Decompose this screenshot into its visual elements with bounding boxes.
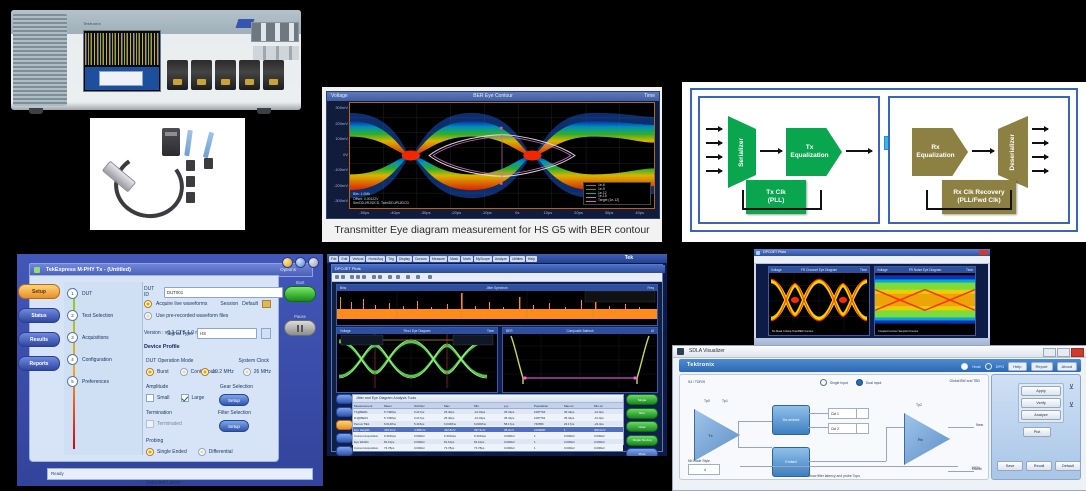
table-cell: 73.78ps — [383, 445, 413, 450]
column-header[interactable]: Max-cc — [563, 403, 593, 408]
save-button[interactable]: Save — [997, 461, 1023, 471]
two-eye-app-icon — [756, 251, 760, 255]
filter-setup-button[interactable]: Setup — [219, 420, 249, 432]
embed-block[interactable]: Embed — [772, 447, 810, 477]
mode-burst-radio[interactable] — [146, 368, 154, 376]
noise-eye-annotation: Coupled Contour Sampled Contour — [878, 330, 919, 333]
tx-input-arrow-3 — [706, 156, 722, 158]
dpojet-scope-screen[interactable]: FileEditVerticalHoriz/AcqTrigDisplayCurs… — [327, 254, 667, 456]
probe-tip-2 — [203, 132, 214, 158]
left-eye-title-left: Voltage — [771, 268, 782, 272]
tx-amplifier-label: Tx — [708, 433, 712, 438]
tekexpress-title-text: TekExpress M-PHY Tx - (Untitled) — [46, 267, 131, 273]
verify-button[interactable]: Verify — [1021, 398, 1061, 408]
rx-equalization-label: Rx Equalization — [916, 144, 954, 160]
eye-plot-area: Bits: 1.0MbOffset: 0.00122VSer/DDJ/RJ/DC… — [349, 102, 655, 209]
wire-join-vertical — [886, 427, 887, 461]
de-embed-block[interactable]: De-embed — [772, 405, 810, 435]
output-near-label: Near — [976, 423, 983, 427]
session-label: Session — [220, 301, 238, 307]
eye-y-tick: -100mV — [334, 167, 348, 172]
menu-measure[interactable]: Measure — [430, 256, 447, 262]
eye-figure-caption: Transmitter Eye diagram measurement for … — [322, 224, 662, 236]
eye2-svg — [337, 328, 497, 392]
bottom-action-group[interactable]: Save Recall Default — [997, 461, 1081, 471]
scope-foot-right — [257, 108, 271, 114]
probe-tip-1 — [184, 130, 193, 156]
bath-title-right: UI — [651, 329, 654, 333]
primary-action-group[interactable]: Apply Verify Analyze — [1018, 383, 1064, 423]
step-item-1[interactable]: 1DUT — [67, 288, 92, 299]
table-cell: 0.000Hz — [413, 439, 443, 444]
side-tab-configure[interactable] — [336, 407, 353, 417]
rx-output-arrow-1 — [1032, 128, 1048, 130]
step-item-3[interactable]: 3Acquisitions — [67, 332, 109, 343]
menu-display[interactable]: Display — [397, 256, 412, 262]
scope-usb-ports — [251, 22, 299, 42]
unit-dpo-label: DPO — [996, 364, 1005, 369]
step-number: 5 — [67, 376, 78, 387]
eye-y-tick: 0V — [343, 152, 348, 157]
scope-aux-input — [263, 60, 284, 90]
analyze-button[interactable]: Analyze — [1021, 410, 1061, 420]
table-cell: 1000000 — [533, 427, 563, 432]
sdla-app-icon — [677, 348, 684, 355]
acquire-live-radio[interactable] — [144, 300, 152, 308]
eye-x-tick: -20ps — [451, 210, 461, 215]
eye2-title-left: Voltage — [340, 329, 351, 333]
table-cell: 6.3016ps — [473, 433, 503, 438]
eye-y-tick: 200mV — [335, 121, 348, 126]
table-cell: 25.40ps — [443, 409, 473, 414]
eye-plot-header: Voltage Rec1 Eye Diagram Time — [337, 328, 497, 334]
clock-192-label: 19.2 MHz — [212, 369, 233, 375]
table-cell: 0.000Hz — [503, 433, 533, 438]
two-eye-close-button[interactable] — [979, 250, 988, 255]
minimize-button[interactable] — [282, 257, 293, 268]
side-tab-setup[interactable] — [336, 394, 353, 404]
amplitude-large-label: Large — [192, 395, 205, 401]
help-button[interactable]: Help — [1008, 362, 1026, 371]
column-header[interactable]: Measurement — [353, 403, 383, 408]
tekexpress-application[interactable]: TekExpress M-PHY Tx - (Untitled) Options… — [17, 254, 323, 486]
eye-x-tick: 30ps — [605, 210, 614, 215]
eye-title-right: Time — [644, 93, 655, 99]
ber-eye-contour-figure: Voltage BER Eye Contour Time 300mV200mV1… — [322, 87, 662, 242]
transmitter-section: Serializer Tx Equalization Tx Clk (PLL) — [698, 96, 880, 224]
bathtub-svg — [503, 328, 657, 392]
sdla-action-panel[interactable]: Apply Verify Analyze Plot Save Recall De… — [991, 374, 1081, 480]
column-header[interactable]: p-p — [503, 403, 533, 408]
eye2-title-right: Time — [487, 329, 494, 333]
table-cell: 0.000Hz — [503, 439, 533, 444]
rec-eye-diagram-plot: Voltage Rec1 Eye Diagram Time — [336, 327, 498, 393]
table-cell: 1 — [533, 433, 563, 438]
single-input-radio[interactable] — [820, 379, 827, 386]
wire-tx-split — [738, 421, 739, 447]
table-cell: 0.000Hz — [563, 433, 593, 438]
table-cell: 5.415ps — [413, 421, 443, 426]
right-eye-title-right: Time — [966, 268, 973, 272]
column-header[interactable]: Min — [473, 403, 503, 408]
menu-cursors[interactable]: Cursors — [413, 256, 429, 262]
eye-x-tick: -10ps — [482, 210, 492, 215]
tekexpress-step-list[interactable]: 1DUT2Test Selection3Acquisitions4Configu… — [64, 282, 143, 455]
table-cell: 0.000Hz — [413, 445, 443, 450]
step-label: Test Selection — [82, 313, 113, 319]
clock-26-label: 26 MHz — [254, 369, 271, 375]
table-cell: 1 — [533, 451, 563, 456]
operation-mode-label: DUT Operation Mode — [146, 358, 193, 364]
menu-analyze[interactable]: Analyze — [493, 256, 509, 262]
tekexpress-nav-buttons[interactable]: SetupStatusResultsReports — [18, 284, 60, 380]
column-header[interactable]: Max — [443, 403, 473, 408]
tekexpress-body: SetupStatusResultsReports 1DUT2Test Sele… — [29, 275, 279, 462]
eye2-title-center: Rec1 Eye Diagram — [404, 329, 431, 333]
nav-setup-button[interactable]: Setup — [18, 284, 60, 299]
unit-dpo-radio[interactable] — [985, 363, 992, 370]
rx-clk-feedback-wire — [926, 190, 1012, 210]
table-cell: 6.0148ns — [383, 421, 413, 426]
deserializer-block: Deserializer — [998, 116, 1028, 188]
wire-rx-out-main — [948, 427, 974, 428]
step-number: 1 — [67, 288, 78, 299]
action-run-button[interactable]: Run — [626, 408, 658, 419]
plot-button[interactable]: Plot — [1023, 427, 1051, 437]
step-item-4[interactable]: 4Configuration — [67, 354, 112, 365]
probe-amplifier-head — [162, 128, 180, 156]
wire-rx-out-clk — [948, 471, 974, 472]
rx-amplifier-shape[interactable]: Rx — [904, 413, 950, 465]
eye-annotation-text: Bits: 1.0MbOffset: 0.00122VSer/DDJ/RJ/DC… — [353, 192, 409, 205]
tekexpress-form[interactable]: DUT ID DUT001 Acquire live waveforms Ses… — [144, 282, 273, 455]
table-cell: 6.0348ns — [443, 421, 473, 426]
table-cell: Eye Height1 — [353, 427, 383, 432]
start-button[interactable] — [284, 286, 316, 302]
table-cell: 1 — [563, 427, 593, 432]
signal-type-select[interactable]: HS — [197, 328, 257, 339]
action-single-button[interactable]: Single — [626, 394, 658, 405]
tx-equalization-label: Tx Equalization — [790, 144, 828, 160]
table-cell: Current Acquisition — [353, 445, 383, 450]
table-cell: Period-TIE1 — [353, 421, 383, 426]
collage-stage: Tektronix Voltage — [0, 0, 1086, 489]
menu-vertical[interactable]: Vertical — [350, 256, 365, 262]
channel-eye-annotation: No Mask Criteria Total BER Contour — [772, 330, 813, 333]
dual-input-label: Dual Input — [866, 381, 881, 385]
amplitude-small-label: Small — [157, 395, 170, 401]
device-profile-label: Device Profile — [144, 344, 180, 350]
table-cell: 0.000Hz — [593, 445, 623, 450]
jitter-results-table[interactable]: Jitter and Eye Diagram Analysis Tools Me… — [352, 394, 624, 445]
ser-to-txeq-arrow — [760, 150, 782, 152]
rx-equalization-block: Rx Equalization — [912, 128, 968, 176]
table-cell: 0.000Hz — [503, 445, 533, 450]
scope-channel-1 — [167, 60, 188, 90]
pause-button[interactable] — [284, 320, 316, 336]
wire-embed-out — [808, 461, 886, 462]
eye-x-tick: -40ps — [390, 210, 400, 215]
nav-reports-button[interactable]: Reports — [18, 356, 60, 371]
menu-file[interactable]: File — [329, 256, 338, 262]
tx-equalization-block: Tx Equalization — [786, 128, 842, 176]
window-controls[interactable] — [282, 257, 319, 268]
action-plots-button[interactable]: Plots — [626, 448, 658, 456]
menu-edit[interactable]: Edit — [339, 256, 349, 262]
terminated-label: Terminated — [157, 421, 182, 427]
embed-label: Embed — [785, 460, 796, 464]
unit-toggle-label[interactable]: Global BW and TBD — [950, 379, 980, 383]
session-folder-icon[interactable] — [262, 300, 271, 308]
input-mode-group[interactable]: Single Input Dual Input — [820, 379, 881, 386]
step-item-2[interactable]: 2Test Selection — [67, 310, 113, 321]
step-number: 2 — [67, 310, 78, 321]
step-label: Configuration — [82, 357, 112, 363]
scope-channel-inputs — [167, 60, 287, 90]
link-block-diagram: Serializer Tx Equalization Tx Clk (PLL) … — [682, 82, 1086, 242]
tekexpress-run-controls[interactable]: Start Pause — [281, 278, 319, 336]
spectrum-title-left: Bins — [340, 286, 346, 290]
wire-tx-to-deembed — [738, 421, 772, 422]
two-eye-toolbar[interactable] — [754, 256, 990, 264]
ckt1-browse-button[interactable] — [856, 408, 869, 419]
table-cell: Eye Width1 — [353, 439, 383, 444]
amplitude-small-checkbox[interactable] — [146, 394, 154, 402]
maximize-button[interactable] — [295, 257, 306, 268]
sdla-brand-bar: Tektronix Host DPO Help Report About — [679, 359, 1081, 372]
dpojet-action-buttons[interactable]: SingleRunClearSingle No AcqPlotsSave/Rec… — [626, 394, 658, 445]
table-cell: RJ@BER1 — [353, 415, 383, 420]
table-cell: 35.05ps — [383, 451, 413, 456]
single-input-label: Single Input — [830, 381, 848, 385]
table-cell: 81.10ps — [443, 439, 473, 444]
chevron-down-icon[interactable] — [261, 328, 271, 339]
wire-join-to-rx — [886, 427, 904, 428]
menu-mask[interactable]: Mask — [448, 256, 460, 262]
rxeq-to-deser-arrow — [972, 150, 994, 152]
noise-eye-header: Voltage FR Noise Eye Diagram Time — [875, 267, 975, 273]
table-cell: 5.7498ps — [383, 409, 413, 414]
left-eye-title-center: FR Channel Eye Diagram — [801, 268, 837, 272]
probing-differential-radio[interactable] — [198, 448, 206, 456]
right-eye-title-left: Voltage — [877, 268, 888, 272]
receiver-section: Rx Equalization Deserializer Rx Clk Reco… — [888, 96, 1070, 224]
waveform-icon-2: ⊻ — [1069, 401, 1074, 409]
menu-utilities[interactable]: Utilities — [510, 256, 525, 262]
rx-amplifier-label: Rx — [918, 437, 923, 442]
table-row[interactable]: TJ@BER1 Mean35.05ps0.000Hz35.05ps35.05ps… — [353, 451, 623, 456]
amplitude-large-checkbox[interactable] — [181, 394, 189, 402]
step-number: 4 — [67, 354, 78, 365]
bath-title-center: Composite Bathtub — [566, 329, 593, 333]
channel-eye-header: Voltage FR Channel Eye Diagram Time — [769, 267, 869, 273]
eye-x-tick: 40ps — [635, 210, 644, 215]
jitter-spectrum-plot: Bins Jitter Spectrum Freq — [336, 284, 658, 326]
table-cell: 0.000Hz — [563, 439, 593, 444]
side-tab-plots[interactable] — [336, 433, 353, 443]
table-cell: 4.355mV — [413, 427, 443, 432]
side-tab-results[interactable] — [336, 420, 353, 430]
sdla-brandbar-controls[interactable]: Host DPO Help Report About — [961, 362, 1077, 371]
column-header[interactable]: Min-cc — [593, 403, 623, 408]
table-cell: 1 — [533, 439, 563, 444]
sdla-brand-text: Tektronix — [687, 362, 714, 368]
table-cell: 35.42ps — [503, 415, 533, 420]
table-cell: 6.3016ps — [383, 433, 413, 438]
table-cell: 0.000Hz — [413, 451, 443, 456]
mode-continuous-radio[interactable] — [180, 368, 188, 376]
table-cell: -10.02ps — [473, 415, 503, 420]
nav-results-button[interactable]: Results — [18, 332, 60, 347]
table-cell: 73.78ps — [443, 445, 473, 450]
table-cell: 397.6mV — [473, 427, 503, 432]
table-cell: TJ@BER1 — [353, 409, 383, 414]
sdla-window-controls[interactable] — [1043, 348, 1084, 357]
terminated-checkbox[interactable] — [146, 420, 154, 428]
mode-burst-label: Burst — [157, 369, 169, 375]
column-header[interactable]: Std Dev — [413, 403, 443, 408]
composite-bathtub-plot: BER Composite Bathtub UI — [502, 327, 658, 393]
dpojet-side-tabs[interactable] — [336, 394, 351, 445]
tx-port-label-1: Tp1 — [722, 399, 728, 403]
tx-input-arrow-4 — [706, 170, 722, 172]
column-header[interactable]: Population — [533, 403, 563, 408]
rx-output-arrow-3 — [1032, 156, 1048, 158]
table-cell: 0.000Hz — [563, 451, 593, 456]
amplitude-label: Amplitude — [146, 384, 168, 390]
clock-192-radio[interactable] — [201, 368, 209, 376]
apply-button[interactable]: Apply — [1021, 386, 1061, 396]
tx-input-arrow-2 — [706, 142, 722, 144]
prerecorded-radio[interactable] — [144, 312, 152, 320]
report-button[interactable]: Report — [1031, 362, 1053, 371]
table-cell: 1087762 — [533, 415, 563, 420]
menu-help[interactable]: Help — [526, 256, 537, 262]
step-item-5[interactable]: 5Preferences — [67, 376, 109, 387]
table-cell: 35.42ps — [563, 409, 593, 414]
ckt2-browse-button[interactable] — [856, 423, 869, 434]
table-cell: 25.40ps — [443, 415, 473, 420]
wire-tx-to-embed — [738, 447, 772, 448]
table-cell: 35.42ps — [503, 409, 533, 414]
eye-y-axis: 300mV200mV100mV0V-100mV-200mV-300mV — [327, 102, 349, 209]
spectrum-svg — [337, 285, 657, 325]
menu-myscope[interactable]: MyScope — [474, 256, 492, 262]
step-label: Acquisitions — [82, 335, 109, 341]
side-tab-reports[interactable] — [336, 446, 353, 456]
sdla-footer-text: Show filter latency and probe Topo — [680, 474, 988, 478]
recall-button[interactable]: Recall — [1026, 461, 1052, 471]
clock-26-radio[interactable] — [243, 368, 251, 376]
de-embed-label: De-embed — [783, 418, 800, 422]
column-header[interactable]: Mean — [383, 403, 413, 408]
scope-channel-3 — [215, 60, 236, 90]
two-eye-body: Voltage FR Channel Eye Diagram Time — [756, 264, 988, 338]
spectrum-title-right: Freq — [647, 286, 654, 290]
waveform-icon-1: ⊻ — [1069, 383, 1074, 391]
table-cell: 0.000Hz — [593, 433, 623, 438]
table-cell: 1087762 — [533, 409, 563, 414]
probing-differential-label: Differential — [209, 449, 233, 455]
nav-status-button[interactable]: Status — [18, 308, 60, 323]
sdla-minimize-button — [1043, 348, 1056, 357]
eye-x-tick: 20ps — [574, 210, 583, 215]
wire-deembed-out-1 — [808, 413, 828, 414]
eye-legend-swatch — [586, 201, 596, 202]
sdla-canvas[interactable]: S4 / TDR/S Single Input Dual Input Globa… — [679, 374, 989, 480]
table-cell: Current Acquisition — [353, 433, 383, 438]
scope-menu-bar[interactable]: FileEditVerticalHoriz/AcqTrigDisplayCurs… — [327, 254, 667, 263]
table-cell: 1 — [533, 445, 563, 450]
two-eye-diagram-window: DPOJET Plots Voltage FR Channel Eye Diag… — [754, 249, 990, 350]
tekexpress-status-bar: Ready — [47, 468, 313, 480]
probing-single-ended-label: Single Ended — [157, 449, 187, 455]
results-table-rows[interactable]: TJ@BER15.7498ps0.217ps25.40ps-10.02ps35.… — [353, 409, 623, 456]
tx-amplifier-shape[interactable]: Tx — [694, 409, 740, 461]
scope-channel-2 — [191, 60, 212, 90]
unit-host-radio[interactable] — [961, 363, 968, 370]
gear-setup-button[interactable]: Setup — [219, 394, 249, 406]
spectrum-title-center: Jitter Spectrum — [486, 286, 507, 290]
probe-accessory-2 — [204, 158, 213, 169]
eye-x-tick: 0s — [515, 210, 519, 215]
rx-output-arrow-2 — [1032, 142, 1048, 144]
table-cell: 0.000Hz — [593, 451, 623, 456]
probing-single-ended-radio[interactable] — [146, 448, 154, 456]
table-cell: 0.000Hz — [503, 451, 533, 456]
deserializer-label: Deserializer — [1009, 134, 1017, 171]
step-number: 3 — [67, 332, 78, 343]
bathtub-plot-header: BER Composite Bathtub UI — [503, 328, 657, 334]
table-cell: 23.17ps — [563, 421, 593, 426]
sdla-close-button — [1071, 348, 1084, 357]
dpojet-plot-area: Bins Jitter Spectrum Freq — [334, 282, 660, 449]
sdla-visualizer-window[interactable]: SDLA Visualizer Tektronix Host DPO Help … — [672, 345, 1086, 491]
menu-horiz-acq[interactable]: Horiz/Acq — [366, 256, 385, 262]
table-cell: 35.05ps — [443, 451, 473, 456]
table-cell: 0.000Hz — [413, 433, 443, 438]
termination-label: Termination — [146, 410, 172, 416]
menu-math[interactable]: Math — [461, 256, 473, 262]
menu-trig[interactable]: Trig — [386, 256, 396, 262]
action-single-no-acq-button[interactable]: Single No Acq — [626, 435, 658, 446]
tx-input-arrow-1 — [706, 128, 722, 130]
dut-id-input[interactable]: DUT001 — [164, 287, 283, 298]
scope-knob-row — [253, 46, 299, 60]
table-cell: -10.02ps — [473, 409, 503, 414]
action-clear-button[interactable]: Clear — [626, 421, 658, 432]
eye-x-axis: -50ps-40ps-30ps-20ps-10ps0s10ps20ps30ps4… — [349, 209, 655, 218]
dual-input-radio[interactable] — [856, 379, 863, 386]
node-style-label: Nb Node Style — [688, 459, 710, 463]
eye-x-tick: -30ps — [420, 210, 430, 215]
system-clock-label: System Clock — [238, 358, 269, 364]
close-button[interactable] — [308, 257, 319, 268]
dpojet-toolbar[interactable] — [332, 273, 662, 282]
tek-logo: Tek — [625, 255, 633, 261]
sdla-titlebar: SDLA Visualizer — [673, 346, 1086, 358]
eye-title-left: Voltage — [331, 93, 348, 99]
pause-label: Pause — [281, 314, 319, 319]
default-button[interactable]: Default — [1055, 461, 1081, 471]
two-eye-titlebar: DPOJET Plots — [754, 249, 990, 256]
table-cell: -10.0ps — [593, 409, 623, 414]
table-cell: 35.05ps — [473, 451, 503, 456]
eye-legend: 1e-61e-91e-121e-15Target (1e-12) — [583, 182, 651, 205]
dut-id-label: DUT ID — [144, 286, 160, 298]
eye-legend-label: Target (1e-12) — [598, 199, 619, 203]
about-button[interactable]: About — [1057, 362, 1077, 371]
